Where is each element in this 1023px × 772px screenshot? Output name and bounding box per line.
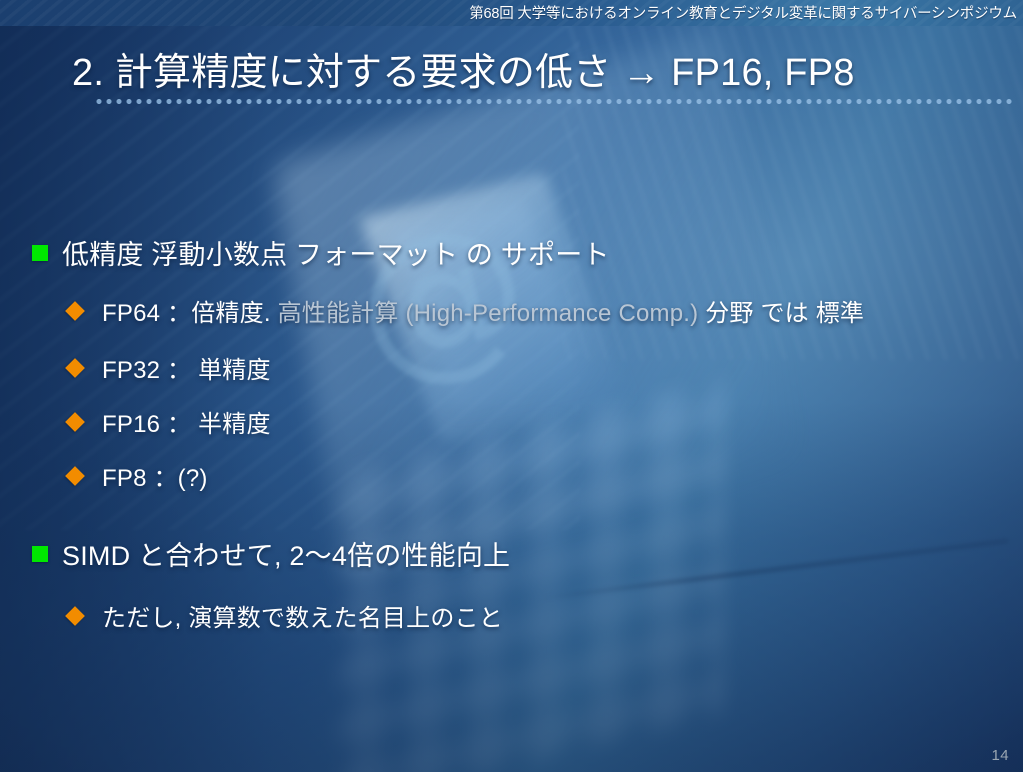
bullet-level2-label-caveat: ただし, 演算数で数えた名目上のこと — [102, 598, 503, 633]
bullet-level2-fp8: FP8 ：(?) — [68, 458, 208, 493]
bullet-level2-fp32: FP32 ： 単精度 — [68, 350, 271, 385]
bullet-level2-label-fp8: FP8 ：(?) — [102, 458, 208, 493]
slide-body: 低精度 浮動小数点 フォーマット の サポート FP64 ：倍精度. 高性能計算… — [0, 0, 1023, 772]
bullet-level2-fp64: FP64 ：倍精度. 高性能計算 (High-Performance Comp.… — [68, 293, 864, 328]
orange-diamond-bullet-icon — [65, 466, 85, 486]
green-square-bullet-icon — [32, 245, 48, 261]
green-square-bullet-icon — [32, 546, 48, 562]
bullet-level1-simd: SIMD と合わせて, 2〜4倍の性能向上 — [32, 534, 510, 573]
orange-diamond-bullet-icon — [65, 358, 85, 378]
bullet-level2-label-fp32: FP32 ： 単精度 — [102, 350, 271, 385]
bullet-level1-low-precision: 低精度 浮動小数点 フォーマット の サポート — [32, 233, 610, 272]
bullet-level2-fp16: FP16 ： 半精度 — [68, 404, 271, 439]
bullet-level2-label-fp64: FP64 ：倍精度. 高性能計算 (High-Performance Comp.… — [102, 293, 864, 328]
fp64-dim-text: 高性能計算 (High-Performance Comp.) — [278, 300, 699, 327]
orange-diamond-bullet-icon — [65, 301, 85, 321]
bullet-level1-label-simd: SIMD と合わせて, 2〜4倍の性能向上 — [62, 534, 510, 573]
orange-diamond-bullet-icon — [65, 606, 85, 626]
bullet-level1-label: 低精度 浮動小数点 フォーマット の サポート — [62, 233, 610, 272]
fp64-lead-text: FP64 ：倍精度. — [102, 300, 278, 327]
fp64-tail-text: 分野 では 標準 — [698, 300, 864, 327]
page-number: 14 — [992, 747, 1010, 764]
bullet-level2-caveat: ただし, 演算数で数えた名目上のこと — [68, 598, 503, 633]
bullet-level2-label-fp16: FP16 ： 半精度 — [102, 404, 271, 439]
presentation-slide: @ 第68回 大学等におけるオンライン教育とデジタル変革に関するサイバーシンポジ… — [0, 0, 1023, 772]
orange-diamond-bullet-icon — [65, 412, 85, 432]
